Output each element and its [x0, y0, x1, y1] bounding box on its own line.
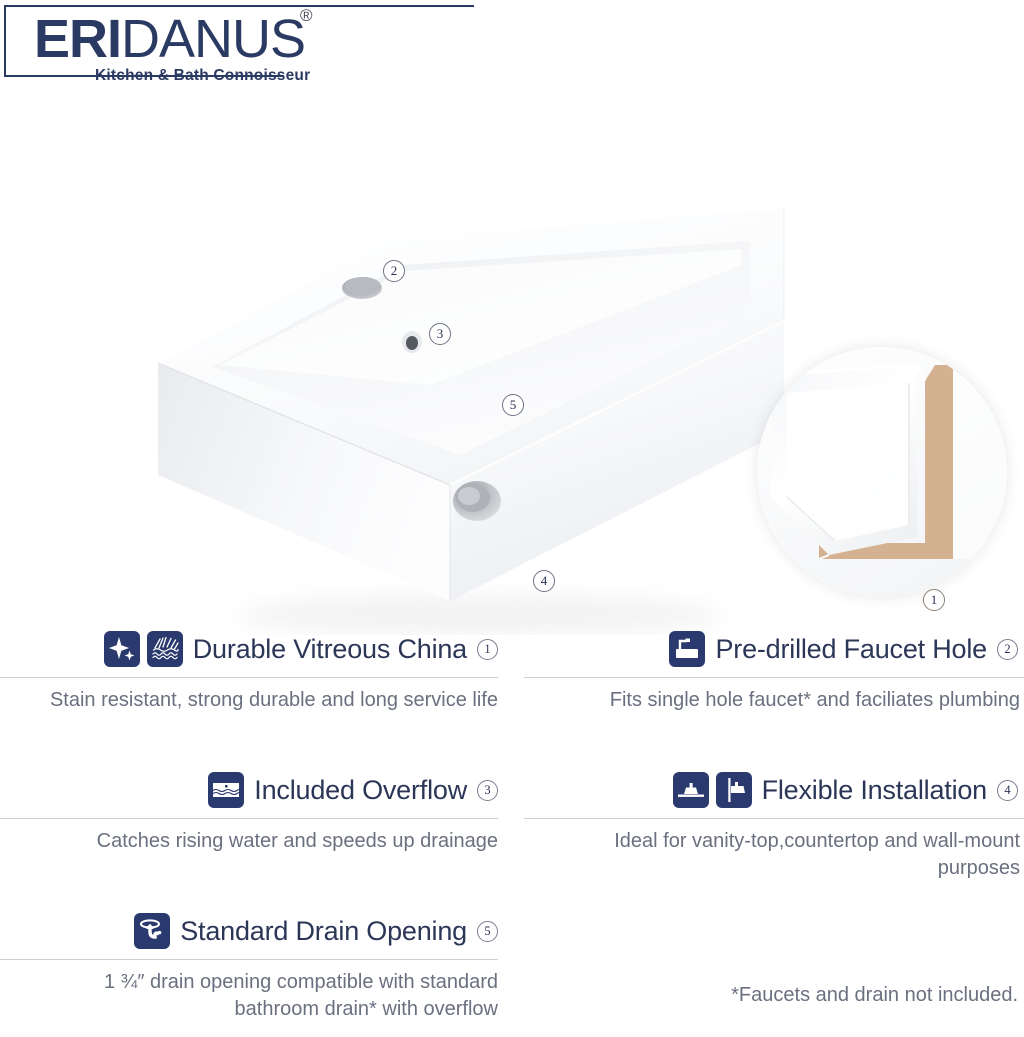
feature-number-badge: 4 [997, 780, 1018, 801]
feature-description: Ideal for vanity-top,countertop and wall… [536, 828, 1020, 882]
feature-header: Pre-drilled Faucet Hole 2 [669, 623, 1018, 675]
feature-number-badge: 1 [477, 639, 498, 660]
disclaimer-text: *Faucets and drain not included. [512, 982, 1022, 1008]
cross-section-detail-inset [757, 347, 1007, 597]
feature-number-badge: 2 [997, 639, 1018, 660]
feature-header: Standard Drain Opening 5 [134, 905, 498, 957]
feature-title: Pre-drilled Faucet Hole [715, 634, 987, 665]
feature-number-badge: 5 [477, 921, 498, 942]
feature-divider [524, 677, 1024, 678]
feature-description: Fits single hole faucet* and faciliates … [536, 687, 1020, 714]
feature-pre-drilled-faucet-hole: Pre-drilled Faucet Hole 2 Fits single ho… [512, 615, 1024, 755]
callout-marker-2: 2 [383, 260, 405, 282]
registered-trademark-icon: ® [300, 6, 313, 26]
feature-icon-group [104, 631, 183, 667]
feature-description: Stain resistant, strong durable and long… [24, 687, 498, 714]
feature-number-badge: 3 [477, 780, 498, 801]
water-splash-icon [147, 631, 183, 667]
feature-header: Flexible Installation 4 [673, 764, 1018, 816]
feature-included-overflow: Included Overflow 3 Catches rising water… [0, 756, 512, 896]
feature-icon-group [673, 772, 752, 808]
sink-svg [150, 145, 790, 635]
wall-mount-icon [716, 772, 752, 808]
feature-flexible-installation: Flexible Installation 4 Ideal for vanity… [512, 756, 1024, 896]
feature-header: Durable Vitreous China 1 [104, 623, 498, 675]
feature-title: Durable Vitreous China [193, 634, 467, 665]
feature-title: Flexible Installation [762, 775, 987, 806]
feature-description: Catches rising water and speeds up drain… [24, 828, 498, 855]
logo-wordmark: ERIDANUS [34, 12, 305, 66]
product-photo-area: 2 3 5 4 1 [0, 95, 1024, 615]
feature-divider [0, 818, 498, 819]
feature-divider [524, 818, 1024, 819]
countertop-mount-icon [673, 772, 709, 808]
overflow-waves-icon [208, 772, 244, 808]
feature-description: 1 ¾″ drain opening compatible with stand… [24, 969, 498, 1023]
feature-divider [0, 959, 498, 960]
cross-section-svg [757, 347, 1007, 597]
feature-title: Included Overflow [254, 775, 467, 806]
brand-logo: ERIDANUS ® Kitchen & Bath Connoisseur [0, 0, 360, 95]
logo-tagline: Kitchen & Bath Connoisseur [95, 67, 310, 85]
feature-title: Standard Drain Opening [180, 916, 467, 947]
callout-marker-3: 3 [429, 323, 451, 345]
feature-icon-group [208, 772, 244, 808]
feature-durable-vitreous-china: Durable Vitreous China 1 Stain resistant… [0, 615, 512, 755]
logo-word-eri: ERI [34, 9, 121, 69]
feature-icon-group [669, 631, 705, 667]
feature-standard-drain-opening: Standard Drain Opening 5 1 ¾″ drain open… [0, 897, 512, 1037]
feature-divider [0, 677, 498, 678]
faucet-sink-icon [669, 631, 705, 667]
feature-header: Included Overflow 3 [208, 764, 498, 816]
logo-word-danus: DANUS [121, 9, 305, 69]
callout-marker-5: 5 [502, 394, 524, 416]
sparkle-icon [104, 631, 140, 667]
sink-illustration [150, 145, 790, 635]
callout-marker-1: 1 [923, 589, 945, 611]
callout-marker-4: 4 [533, 570, 555, 592]
p-trap-drain-icon [134, 913, 170, 949]
feature-grid: Durable Vitreous China 1 Stain resistant… [0, 615, 1024, 1012]
feature-icon-group [134, 913, 170, 949]
